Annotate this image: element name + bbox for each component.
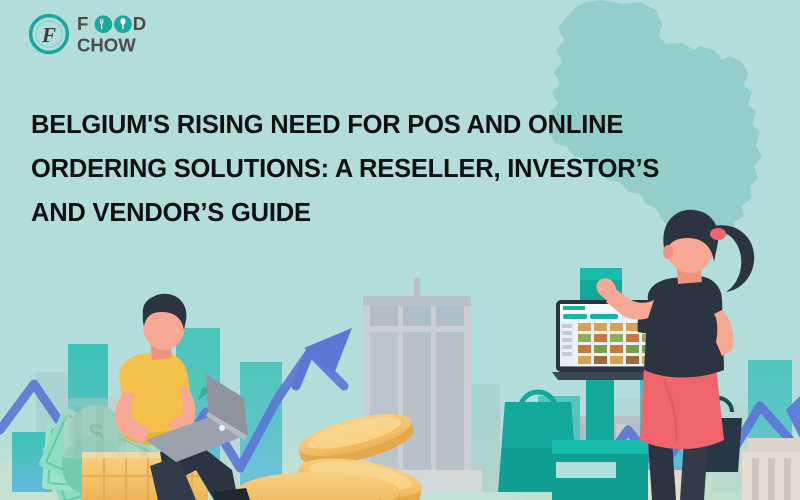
logo-o-fork bbox=[95, 15, 113, 33]
svg-text:F: F bbox=[41, 23, 56, 47]
logo-word-chow: CHOW bbox=[77, 35, 136, 56]
foodchow-wordmark: F D CHOW bbox=[77, 12, 163, 56]
page-title-line-1: BELGIUM'S RISING NEED FOR POS AND ONLINE bbox=[31, 103, 721, 147]
page-title-line-3: AND VENDOR’S GUIDE bbox=[31, 191, 721, 235]
blog-banner: $ $ bbox=[0, 0, 800, 500]
classical-building-right bbox=[742, 438, 800, 500]
page-title-line-2: ORDERING SOLUTIONS: A RESELLER, INVESTOR… bbox=[31, 147, 721, 191]
foodchow-circle-mark: F bbox=[28, 13, 70, 55]
skyscraper-tower bbox=[352, 278, 482, 492]
logo-letter-f: F bbox=[77, 13, 88, 34]
logo-letter-d: D bbox=[133, 13, 146, 34]
page-title: BELGIUM'S RISING NEED FOR POS AND ONLINE… bbox=[31, 103, 721, 235]
foodchow-logo[interactable]: F F D CHOW bbox=[28, 10, 163, 58]
arrow-head bbox=[296, 328, 352, 386]
hero-illustration: $ $ bbox=[0, 0, 800, 500]
